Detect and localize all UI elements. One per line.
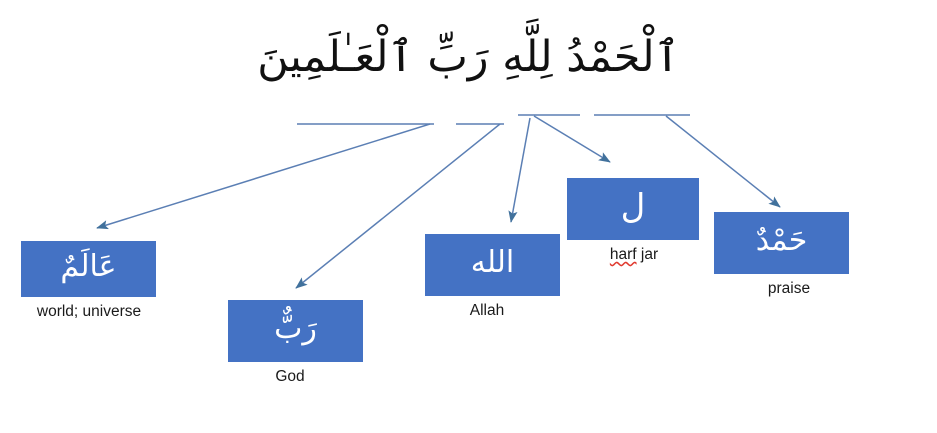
box-alam-gloss: world; universe bbox=[22, 303, 157, 322]
box-hamd-gloss-token: praise bbox=[768, 280, 810, 297]
box-allah[interactable]: اللهAllah bbox=[425, 234, 560, 321]
box-lam-gloss: harf jar bbox=[568, 246, 700, 265]
box-lam-gloss-token: harf bbox=[610, 246, 637, 263]
connector-to-lam bbox=[534, 116, 610, 162]
box-rabb-arabic: رَبٌّ bbox=[228, 300, 363, 362]
box-allah-gloss-token: Allah bbox=[470, 302, 504, 319]
box-lam[interactable]: لharf jar bbox=[567, 178, 699, 265]
box-rabb-gloss-token: God bbox=[275, 368, 304, 385]
box-lam-gloss-token: jar bbox=[641, 246, 658, 263]
box-alam[interactable]: عَالَمٌworld; universe bbox=[21, 241, 156, 322]
box-lam-arabic: ل bbox=[567, 178, 699, 240]
verse-text: ٱلْحَمْدُ لِلَّهِ رَبِّ ٱلْعَـٰلَمِينَ bbox=[0, 26, 937, 88]
box-allah-gloss: Allah bbox=[420, 302, 555, 321]
box-hamd-arabic: حَمْدٌ bbox=[714, 212, 849, 274]
slide-canvas: ٱلْحَمْدُ لِلَّهِ رَبِّ ٱلْعَـٰلَمِينَ ع… bbox=[0, 0, 937, 433]
box-alam-gloss-token: world; universe bbox=[37, 303, 141, 320]
box-alam-arabic: عَالَمٌ bbox=[21, 241, 156, 297]
connector-to-allah bbox=[511, 118, 530, 222]
verse-underlines bbox=[297, 115, 690, 124]
box-hamd[interactable]: حَمْدٌpraise bbox=[714, 212, 849, 299]
box-rabb[interactable]: رَبٌّGod bbox=[228, 300, 363, 387]
box-rabb-gloss: God bbox=[223, 368, 358, 387]
box-hamd-gloss: praise bbox=[722, 280, 857, 299]
connector-to-alam bbox=[97, 124, 430, 228]
box-allah-arabic: الله bbox=[425, 234, 560, 296]
